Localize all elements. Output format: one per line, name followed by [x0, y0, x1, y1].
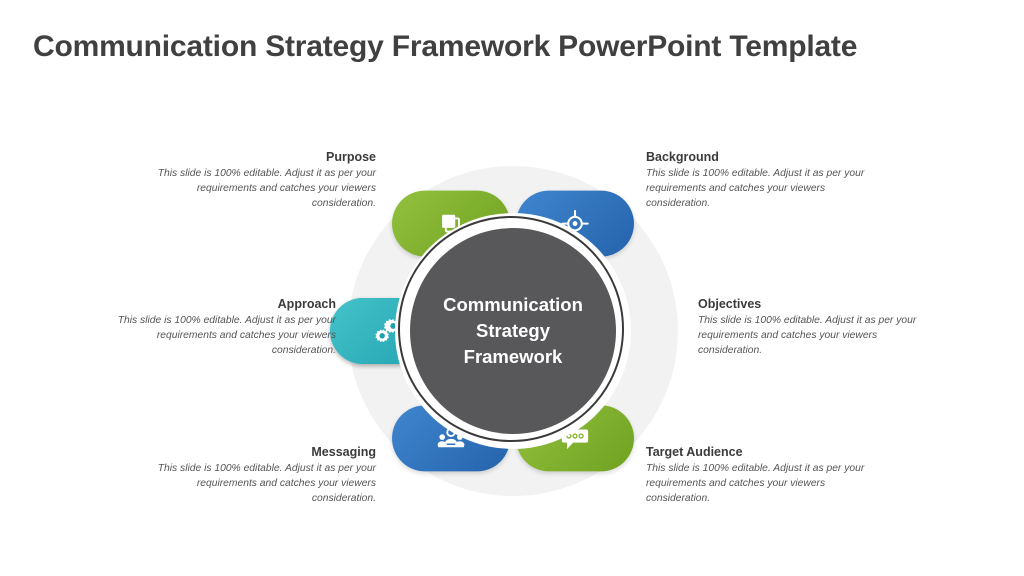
info-block-background: Background This slide is 100% editable. …: [646, 150, 878, 212]
info-body-messaging: This slide is 100% editable. Adjust it a…: [144, 462, 376, 507]
center-hub-line-3: Framework: [433, 344, 593, 370]
center-hub-line-1: Communication: [433, 292, 593, 318]
center-hub-line-2: Strategy: [433, 318, 593, 344]
info-block-messaging: Messaging This slide is 100% editable. A…: [144, 445, 376, 507]
page-title: Communication Strategy Framework PowerPo…: [33, 30, 857, 64]
info-block-approach: Approach This slide is 100% editable. Ad…: [104, 297, 336, 359]
info-body-approach: This slide is 100% editable. Adjust it a…: [104, 314, 336, 359]
info-body-objectives: This slide is 100% editable. Adjust it a…: [698, 314, 930, 359]
info-block-target-audience: Target Audience This slide is 100% edita…: [646, 445, 878, 507]
info-heading-objectives: Objectives: [698, 297, 930, 311]
center-hub: Communication Strategy Framework: [410, 228, 616, 434]
info-body-target-audience: This slide is 100% editable. Adjust it a…: [646, 462, 878, 507]
info-heading-background: Background: [646, 150, 878, 164]
info-heading-messaging: Messaging: [144, 445, 376, 459]
center-hub-label: Communication Strategy Framework: [433, 292, 593, 371]
info-body-background: This slide is 100% editable. Adjust it a…: [646, 167, 878, 212]
info-heading-approach: Approach: [104, 297, 336, 311]
communication-strategy-wheel: Communication Strategy Framework: [348, 166, 678, 496]
info-heading-purpose: Purpose: [144, 150, 376, 164]
info-block-purpose: Purpose This slide is 100% editable. Adj…: [144, 150, 376, 212]
info-block-objectives: Objectives This slide is 100% editable. …: [698, 297, 930, 359]
info-body-purpose: This slide is 100% editable. Adjust it a…: [144, 167, 376, 212]
info-heading-target-audience: Target Audience: [646, 445, 878, 459]
